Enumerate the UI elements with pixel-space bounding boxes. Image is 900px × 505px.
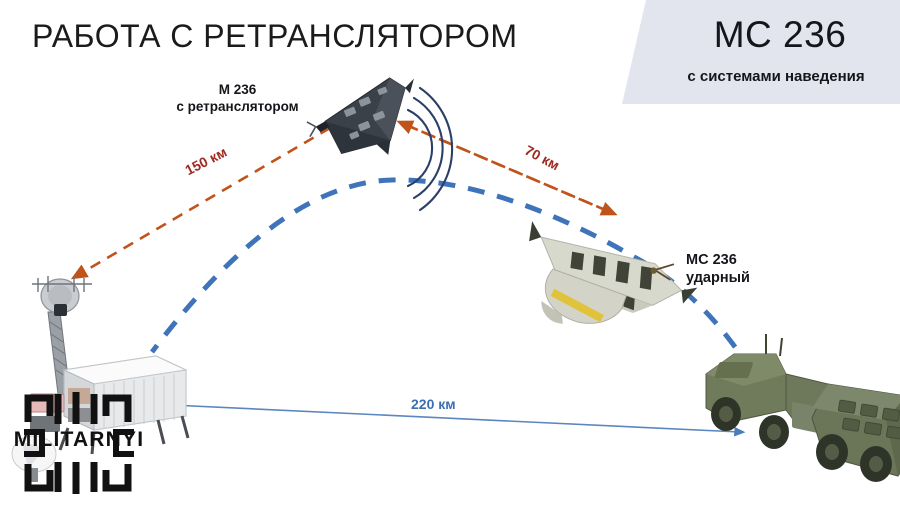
strike-drone-label-line1: МС 236 (686, 251, 750, 269)
relay-drone-label-line2: с ретранслятором (165, 99, 310, 116)
strike-drone-label: МС 236 ударный (686, 251, 750, 287)
relay-drone-label: М 236 с ретранслятором (165, 82, 310, 116)
militarnyi-watermark: MILITARNYI (6, 388, 152, 498)
infographic-canvas: МС 236 с системами наведения РАБОТА С РЕ… (0, 0, 900, 505)
strike-drone-label-line2: ударный (686, 269, 750, 287)
distance-label-220km: 220 км (411, 396, 456, 412)
relay-drone-label-line1: М 236 (165, 82, 310, 99)
militarnyi-wordmark: MILITARNYI (6, 428, 152, 452)
